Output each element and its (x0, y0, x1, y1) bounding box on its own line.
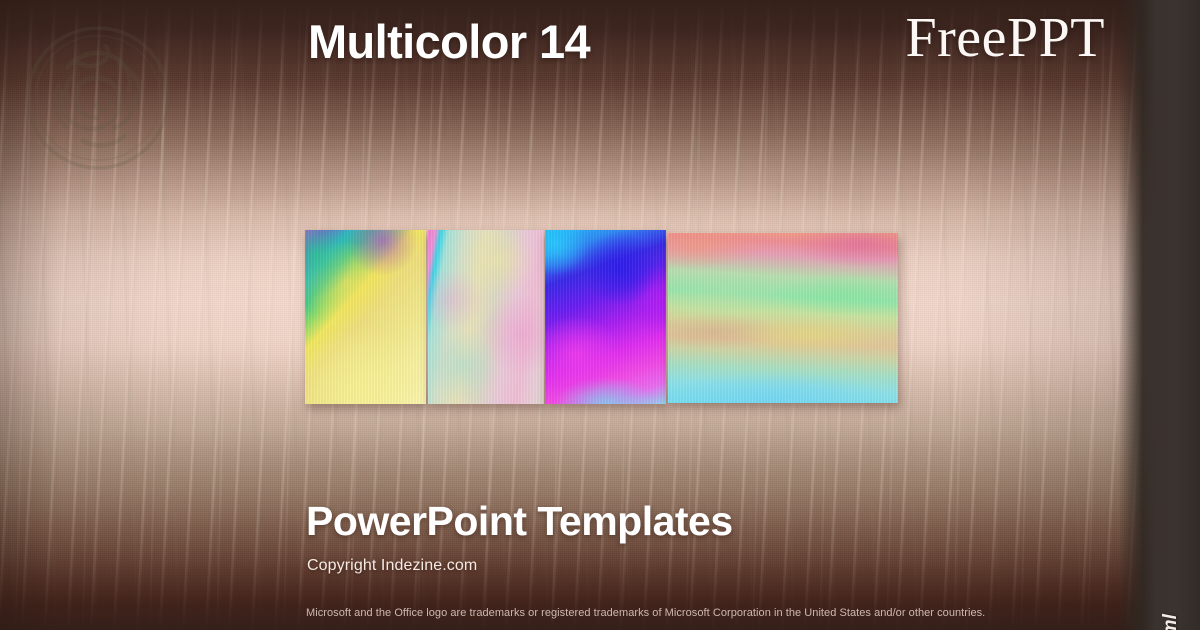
copyright-text: Copyright Indezine.com (307, 557, 477, 575)
thumbnail-4-texture (668, 233, 898, 403)
url-band: freeppt.com/freeppttemplates/categories/… (1118, 0, 1200, 630)
thumbnail-1-texture (305, 230, 426, 404)
template-thumbnail-2[interactable] (428, 230, 544, 404)
poster-canvas: Multicolor 14 FreePPT PowerPoint Templat… (0, 0, 1200, 630)
trademark-disclaimer: Microsoft and the Office logo are tradem… (306, 607, 985, 619)
template-thumbnail-3[interactable] (545, 230, 666, 404)
template-thumbnail-1[interactable] (305, 230, 426, 404)
template-thumbnail-4[interactable] (668, 233, 898, 403)
site-url[interactable]: freeppt.com/freeppttemplates/categories/… (1160, 614, 1182, 630)
footer-headline: PowerPoint Templates (306, 498, 733, 545)
thumbnail-2-texture (428, 230, 544, 404)
thumbnail-3-texture (545, 230, 666, 404)
